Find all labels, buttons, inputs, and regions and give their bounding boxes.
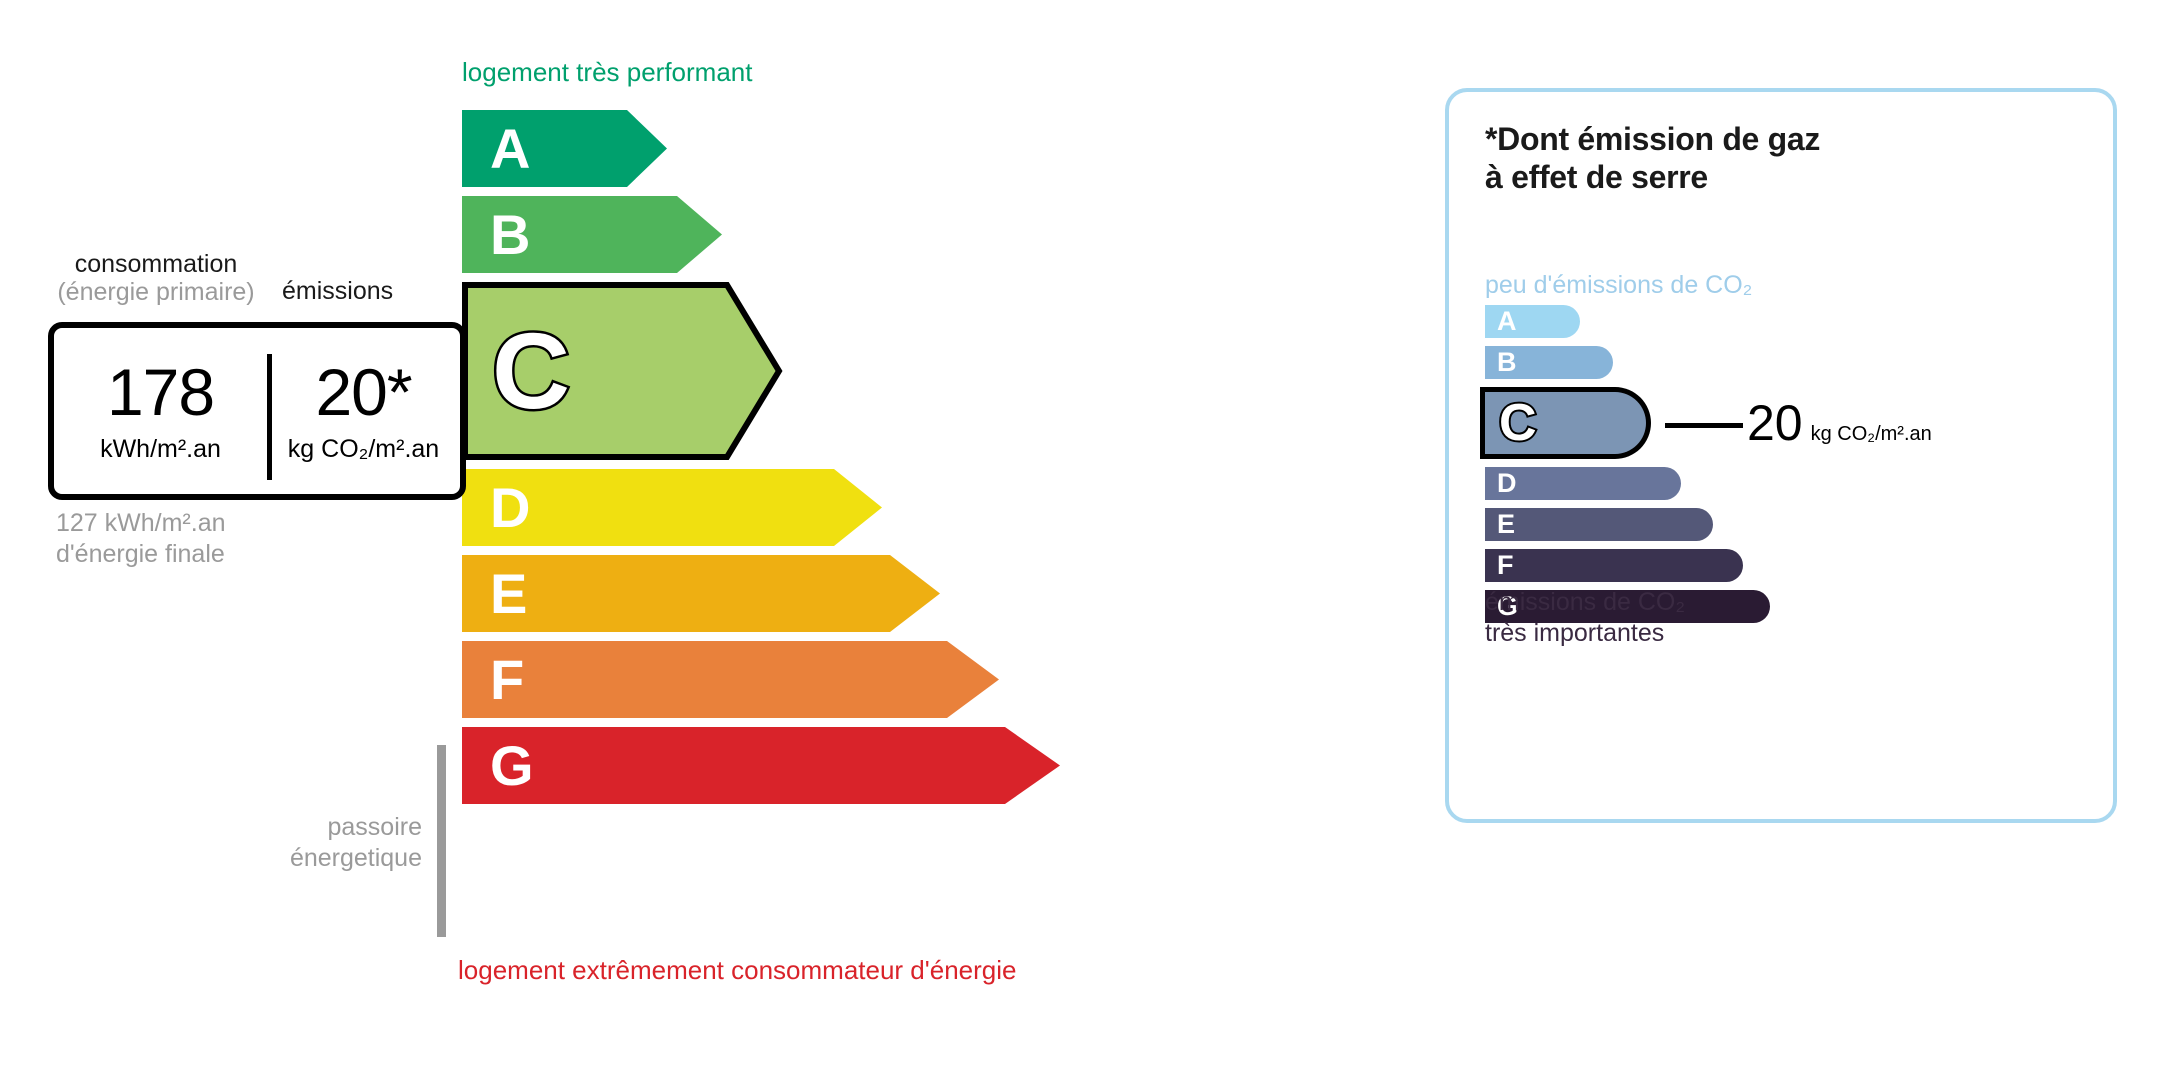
energy-arrow-shape-c bbox=[462, 282, 1262, 460]
co2-callout-value: 20kg CO₂/m².an bbox=[1747, 398, 1932, 448]
energy-class-row-e: E bbox=[462, 555, 1262, 632]
energy-class-letter-c: C bbox=[492, 317, 570, 425]
energy-arrow-shape-f bbox=[462, 641, 1262, 718]
co2-class-letter-f: F bbox=[1497, 552, 1514, 579]
energy-class-letter-a: A bbox=[490, 121, 530, 177]
consumption-value-cell: 178 kWh/m².an bbox=[54, 328, 267, 494]
co2-class-row-d: D bbox=[1485, 467, 1885, 500]
co2-top-caption: peu d'émissions de CO₂ bbox=[1485, 271, 1752, 300]
energy-bottom-caption: logement extrêmement consommateur d'éner… bbox=[458, 955, 1016, 986]
energy-class-row-b: B bbox=[462, 196, 1262, 273]
energy-class-arrow-f: F bbox=[462, 641, 1262, 718]
consumption-unit: kWh/m².an bbox=[100, 435, 221, 464]
energy-arrow-shape-b bbox=[462, 196, 1262, 273]
energy-class-arrow-e: E bbox=[462, 555, 1262, 632]
energy-class-letter-g: G bbox=[490, 738, 534, 794]
energy-value-box: 178 kWh/m².an 20* kg CO₂/m².an bbox=[48, 322, 466, 500]
co2-class-row-a: A bbox=[1485, 305, 1885, 338]
passoire-label-line1: passoire bbox=[200, 812, 422, 843]
consumption-label: consommation (énergie primaire) bbox=[51, 250, 261, 306]
passoire-label: passoire énergetique bbox=[200, 812, 422, 875]
co2-callout-unit: kg CO₂/m².an bbox=[1811, 423, 1932, 445]
energy-class-arrow-b: B bbox=[462, 196, 1262, 273]
co2-class-bar-b: B bbox=[1485, 346, 1613, 379]
co2-class-letter-b: B bbox=[1497, 349, 1517, 376]
energy-performance-panel: logement très performant ABCDEFG passoir… bbox=[0, 0, 1400, 1079]
co2-panel-title-line2: à effet de serre bbox=[1485, 158, 1820, 196]
emissions-value: 20* bbox=[315, 359, 411, 425]
co2-class-row-c: C20kg CO₂/m².an bbox=[1485, 387, 1885, 459]
co2-class-bar-e: E bbox=[1485, 508, 1713, 541]
energy-arrow-shape-a bbox=[462, 110, 1262, 187]
energy-class-row-a: A bbox=[462, 110, 1262, 187]
energy-class-arrow-d: D bbox=[462, 469, 1262, 546]
co2-class-bar-c: C bbox=[1485, 387, 1651, 459]
energy-arrow-shape-e bbox=[462, 555, 1262, 632]
co2-class-row-e: E bbox=[1485, 508, 1885, 541]
energy-class-row-f: F bbox=[462, 641, 1262, 718]
co2-panel-title: *Dont émission de gaz à effet de serre bbox=[1485, 120, 1820, 197]
consumption-value: 178 bbox=[107, 359, 214, 425]
energy-class-letter-f: F bbox=[490, 652, 524, 708]
energy-class-arrow-c: C bbox=[462, 282, 1262, 460]
passoire-label-line2: énergetique bbox=[200, 843, 422, 874]
co2-class-letter-e: E bbox=[1497, 511, 1515, 538]
co2-emissions-panel: *Dont émission de gaz à effet de serre p… bbox=[1445, 88, 2117, 823]
energy-arrow-shape-d bbox=[462, 469, 1262, 546]
energy-class-letter-e: E bbox=[490, 566, 527, 622]
energy-class-row-g: G bbox=[462, 727, 1262, 804]
co2-class-row-b: B bbox=[1485, 346, 1885, 379]
final-energy-note-line2: d'énergie finale bbox=[56, 539, 226, 570]
co2-class-letter-d: D bbox=[1497, 470, 1517, 497]
emissions-label: émissions bbox=[282, 277, 393, 306]
energy-class-arrow-g: G bbox=[462, 727, 1262, 804]
final-energy-note: 127 kWh/m².an d'énergie finale bbox=[56, 508, 226, 571]
co2-class-letter-a: A bbox=[1497, 308, 1517, 335]
energy-class-arrow-a: A bbox=[462, 110, 1262, 187]
passoire-marker-bar bbox=[437, 745, 446, 937]
emissions-unit: kg CO₂/m².an bbox=[288, 435, 439, 464]
energy-top-caption: logement très performant bbox=[462, 57, 752, 88]
co2-callout-leader-line bbox=[1665, 423, 1743, 428]
co2-class-row-f: F bbox=[1485, 549, 1885, 582]
co2-bottom-caption: émissions de CO₂ très importantes bbox=[1485, 587, 1685, 650]
energy-class-row-d: D bbox=[462, 469, 1262, 546]
co2-bottom-caption-line2: très importantes bbox=[1485, 618, 1685, 649]
emissions-value-cell: 20* kg CO₂/m².an bbox=[267, 328, 460, 494]
co2-class-letter-c: C bbox=[1499, 397, 1537, 449]
final-energy-note-line1: 127 kWh/m².an bbox=[56, 508, 226, 539]
co2-class-bar-a: A bbox=[1485, 305, 1580, 338]
energy-class-scale: ABCDEFG bbox=[462, 110, 1262, 813]
co2-class-bar-d: D bbox=[1485, 467, 1681, 500]
energy-arrow-shape-g bbox=[462, 727, 1262, 804]
consumption-label-main: consommation bbox=[51, 250, 261, 278]
energy-class-letter-b: B bbox=[490, 207, 530, 263]
co2-panel-title-line1: *Dont émission de gaz bbox=[1485, 120, 1820, 158]
energy-class-letter-d: D bbox=[490, 480, 530, 536]
co2-class-bar-f: F bbox=[1485, 549, 1743, 582]
energy-class-row-c: C bbox=[462, 282, 1262, 460]
co2-class-scale: ABC20kg CO₂/m².anDEFG bbox=[1485, 305, 1885, 631]
co2-bottom-caption-line1: émissions de CO₂ bbox=[1485, 587, 1685, 618]
consumption-label-sub: (énergie primaire) bbox=[51, 278, 261, 306]
